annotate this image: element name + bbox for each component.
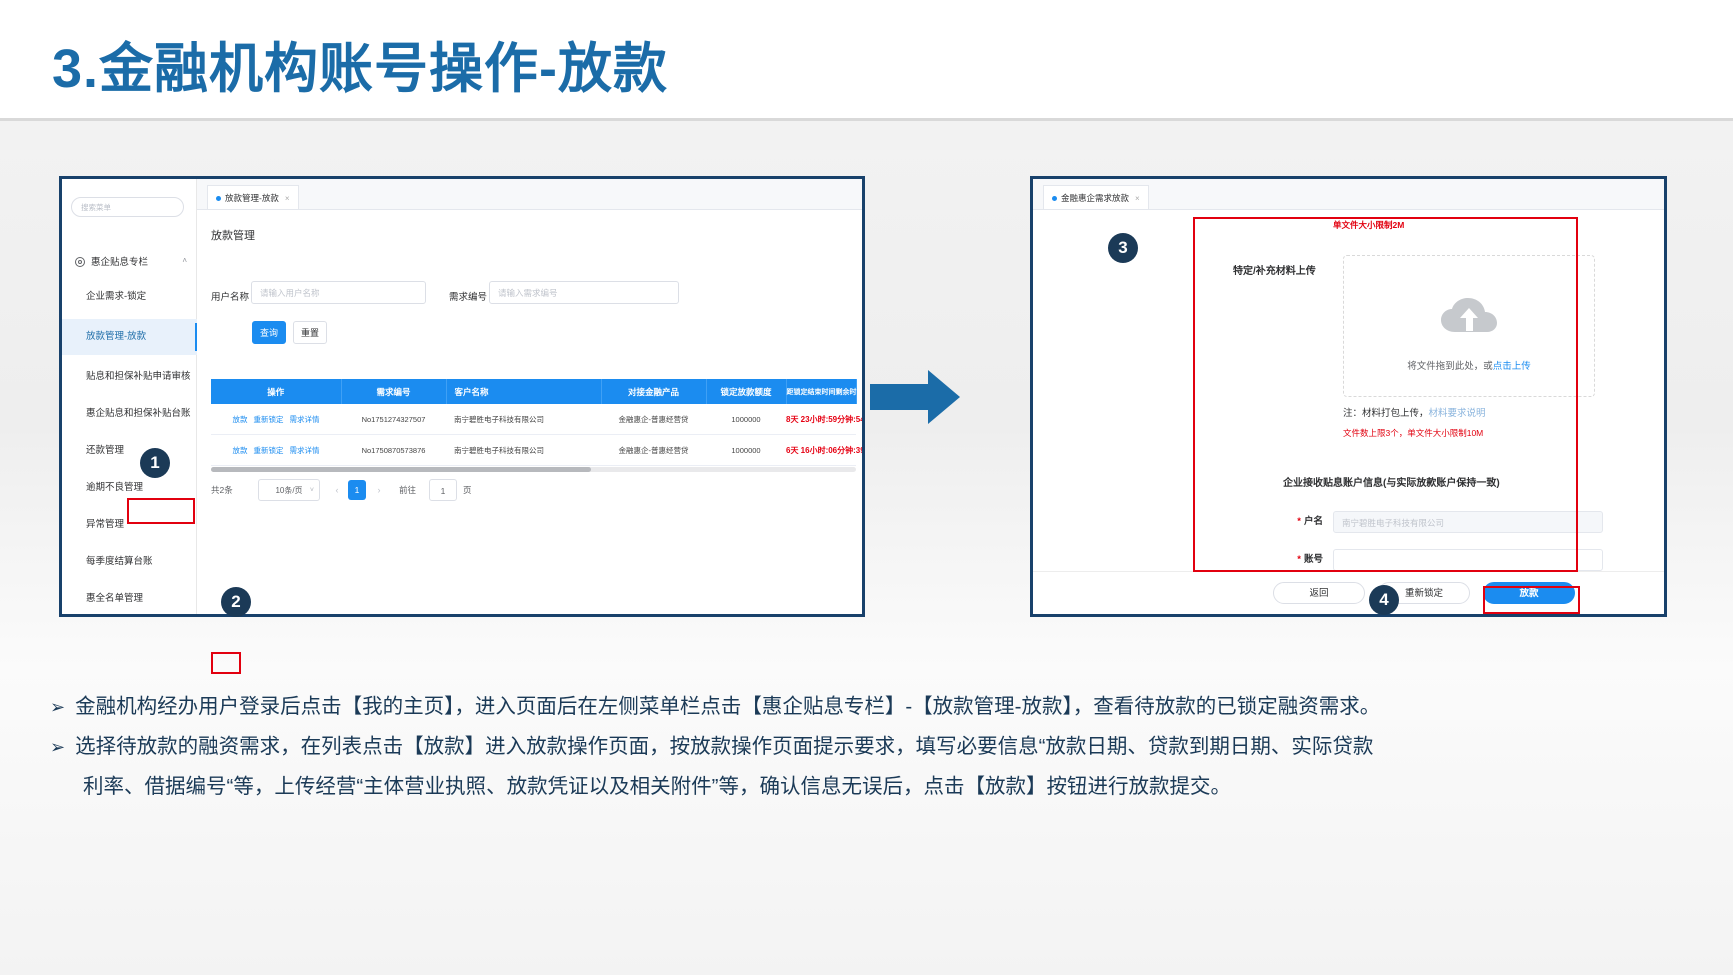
footer-bullet-2: ➢选择待放款的融资需求，在列表点击【放款】进入放款操作页面，按放款操作页面提示要… xyxy=(50,730,1373,764)
row1-demand-no: No1751274327507 xyxy=(341,404,446,435)
horizontal-scrollbar[interactable] xyxy=(211,467,856,472)
row2-customer: 南宁碧胜电子科技有限公司 xyxy=(446,435,601,466)
tab-fangkuan-guanli[interactable]: 放款管理-放款× xyxy=(207,185,299,209)
sidebar-item-tiexi-taizhang[interactable]: 惠企贴息和担保补贴台账 xyxy=(62,396,197,432)
title-band: 3.金融机构账号操作-放款 xyxy=(0,0,1733,118)
table-row[interactable]: 放款重新锁定需求详情 No1751274327507 南宁碧胜电子科技有限公司 … xyxy=(211,404,856,435)
row1-detail-link[interactable]: 需求详情 xyxy=(290,415,320,424)
row2-relock-link[interactable]: 重新锁定 xyxy=(254,446,284,455)
marker-3: 3 xyxy=(1108,233,1138,263)
row2-countdown: 6天 16小时:06分钟:39秒 xyxy=(786,435,856,466)
row2-demand-no: No1750870573876 xyxy=(341,435,446,466)
user-name-label: 用户名称 xyxy=(211,289,249,303)
user-name-input[interactable]: 请输入用户名称 xyxy=(251,281,426,304)
file-limit-note: 文件数上限3个，单文件大小限制10M xyxy=(1343,427,1483,439)
sidebar-item-yichang-guanli[interactable]: 异常管理 xyxy=(62,507,197,543)
table-row[interactable]: 放款重新锁定需求详情 No1750870573876 南宁碧胜电子科技有限公司 … xyxy=(211,435,856,466)
left-app-screenshot: 搜索菜单 惠企贴息专栏 ˄ 企业需求-锁定 放款管理-放款 贴息和担保补贴申请审… xyxy=(59,176,865,617)
tab-bar: 放款管理-放款× xyxy=(197,179,862,210)
sidebar-item-yuqi-buliang[interactable]: 逾期不良管理 xyxy=(62,470,197,506)
sidebar-item-qiye-xuqiu-suoding[interactable]: 企业需求-锁定 xyxy=(62,279,197,315)
note-prefix: 注：材料打包上传， xyxy=(1343,408,1429,419)
file-upload-dropzone[interactable]: 将文件拖到此处，或点击上传 xyxy=(1343,255,1595,397)
sidebar-group-label: 惠企贴息专栏 xyxy=(91,254,148,268)
footer-bullet-3: 利率、借据编号“等，上传经营“主体营业执照、放款凭证以及相关附件”等，确认信息无… xyxy=(83,770,1231,804)
gear-icon xyxy=(74,255,86,267)
footer-bullet-1-text: 金融机构经办用户登录后点击【我的主页】，进入页面后在左侧菜单栏点击【惠企贴息专栏… xyxy=(75,695,1380,718)
upload-field-label: 特定/补充材料上传 xyxy=(1233,262,1316,277)
page-title: 3.金融机构账号操作-放款 xyxy=(52,24,668,103)
chevron-down-icon: ˅ xyxy=(310,480,314,502)
goto-page-input[interactable]: 1 xyxy=(429,479,457,501)
upload-hint-prefix: 将文件拖到此处，或 xyxy=(1407,361,1493,372)
zhanghao-label: 账号 xyxy=(1297,549,1323,571)
sidebar: 搜索菜单 惠企贴息专栏 ˄ 企业需求-锁定 放款管理-放款 贴息和担保补贴申请审… xyxy=(62,179,197,614)
tab-label: 放款管理-放款 xyxy=(225,193,279,203)
col-operation: 操作 xyxy=(211,379,341,404)
disburse-button[interactable]: 放款 xyxy=(1483,582,1575,604)
col-amount: 锁定放款额度 xyxy=(706,379,786,404)
marker-2: 2 xyxy=(221,587,251,617)
row-operations: 放款重新锁定需求详情 xyxy=(211,404,341,435)
tab-jinrong-huiqi-fangkuan[interactable]: 金融惠企需求放款× xyxy=(1043,185,1149,209)
footer-bullet-1: ➢金融机构经办用户登录后点击【我的主页】，进入页面后在左侧菜单栏点击【惠企贴息专… xyxy=(50,690,1380,724)
marker-4: 4 xyxy=(1369,585,1399,615)
prev-page-button[interactable]: ‹ xyxy=(329,479,345,501)
row2-detail-link[interactable]: 需求详情 xyxy=(290,446,320,455)
row1-disburse-link[interactable]: 放款 xyxy=(233,415,248,424)
row2-disburse-link[interactable]: 放款 xyxy=(233,446,248,455)
sidebar-item-tiexi-shenhe[interactable]: 贴息和担保补贴申请审核 xyxy=(62,359,197,395)
zhanghao-input[interactable] xyxy=(1333,549,1603,571)
page-size-value: 10条/页 xyxy=(275,486,302,495)
row2-product: 金融惠企-普惠经营贷 xyxy=(601,435,706,466)
row1-relock-link[interactable]: 重新锁定 xyxy=(254,415,284,424)
page-title-inner: 放款管理 xyxy=(211,227,255,243)
right-tab-label: 金融惠企需求放款 xyxy=(1061,193,1129,203)
close-icon[interactable]: × xyxy=(285,194,290,203)
query-button[interactable]: 查询 xyxy=(252,321,286,344)
back-button[interactable]: 返回 xyxy=(1273,582,1365,604)
next-page-button[interactable]: › xyxy=(371,479,387,501)
upload-hint: 将文件拖到此处，或点击上传 xyxy=(1344,358,1594,372)
left-main-area: 放款管理-放款× 放款管理 用户名称 请输入用户名称 需求编号 请输入需求编号 … xyxy=(197,179,862,614)
upload-click-link[interactable]: 点击上传 xyxy=(1493,361,1531,372)
sidebar-item-mingdan-guanli[interactable]: 惠全名单管理 xyxy=(62,581,197,617)
chevron-up-icon[interactable]: ˄ xyxy=(182,256,187,265)
sidebar-group-huiqi[interactable]: 惠企贴息专栏 ˄ xyxy=(62,249,197,275)
material-note: 注：材料打包上传，材料要求说明 xyxy=(1343,405,1486,419)
col-product: 对接金融产品 xyxy=(601,379,706,404)
sidebar-item-jiesuan-taizhang[interactable]: 每季度结算台账 xyxy=(62,544,197,580)
size-limit-note: 单文件大小限制2M xyxy=(1333,219,1404,231)
sidebar-item-huankuan-guanli[interactable]: 还款管理 xyxy=(62,433,197,469)
field-row-huming: 户名 xyxy=(1233,511,1323,533)
row2-amount: 1000000 xyxy=(706,435,786,466)
huming-input: 南宁碧胜电子科技有限公司 xyxy=(1333,511,1603,533)
col-customer: 客户名称 xyxy=(446,379,601,404)
goto-label: 前往 xyxy=(399,479,416,501)
sidebar-item-fangkuan-guanli[interactable]: 放款管理-放款 xyxy=(62,319,197,355)
bullet-arrow-icon: ➢ xyxy=(50,737,65,757)
row-operations: 放款重新锁定需求详情 xyxy=(211,435,341,466)
tab-dot-icon xyxy=(216,196,221,201)
account-section-title: 企业接收贴息账户信息(与实际放款账户保持一致) xyxy=(1283,474,1500,489)
right-tab-bar: 金融惠企需求放款× xyxy=(1033,179,1664,210)
row1-product: 金融惠企-普惠经营贷 xyxy=(601,404,706,435)
page-unit-label: 页 xyxy=(463,479,472,501)
flow-arrow-icon xyxy=(870,370,960,424)
col-demand-no: 需求编号 xyxy=(341,379,446,404)
close-icon[interactable]: × xyxy=(1135,194,1140,203)
demand-no-input[interactable]: 请输入需求编号 xyxy=(489,281,679,304)
bullet-arrow-icon: ➢ xyxy=(50,697,65,717)
page-number-1[interactable]: 1 xyxy=(348,480,366,500)
row1-customer: 南宁碧胜电子科技有限公司 xyxy=(446,404,601,435)
marker-1: 1 xyxy=(140,448,170,478)
right-footer-bar: 返回 重新锁定 放款 xyxy=(1033,571,1664,614)
total-count: 共2条 xyxy=(211,479,233,501)
footer-bullet-2-text: 选择待放款的融资需求，在列表点击【放款】进入放款操作页面，按放款操作页面提示要求… xyxy=(75,735,1373,758)
reset-button[interactable]: 重置 xyxy=(293,321,327,344)
demand-no-label: 需求编号 xyxy=(449,289,487,303)
material-requirement-link[interactable]: 材料要求说明 xyxy=(1429,408,1486,419)
footer-bullet-3-text: 利率、借据编号“等，上传经营“主体营业执照、放款凭证以及相关附件”等，确认信息无… xyxy=(83,775,1231,798)
page-size-select[interactable]: 10条/页˅ xyxy=(258,479,320,501)
field-row-zhanghao: 账号 xyxy=(1233,549,1323,571)
row1-countdown: 8天 23小时:59分钟:54秒 xyxy=(786,404,856,435)
cloud-upload-icon xyxy=(1441,298,1497,343)
huming-label: 户名 xyxy=(1297,511,1323,533)
col-countdown: 距锁定结束时间剩余时间 xyxy=(786,379,856,404)
search-input[interactable]: 搜索菜单 xyxy=(71,197,184,217)
row1-amount: 1000000 xyxy=(706,404,786,435)
tab-dot-icon xyxy=(1052,196,1057,201)
disbursement-table: 操作 需求编号 客户名称 对接金融产品 锁定放款额度 距锁定结束时间剩余时间 放… xyxy=(211,379,857,466)
table-header-row: 操作 需求编号 客户名称 对接金融产品 锁定放款额度 距锁定结束时间剩余时间 xyxy=(211,379,856,404)
